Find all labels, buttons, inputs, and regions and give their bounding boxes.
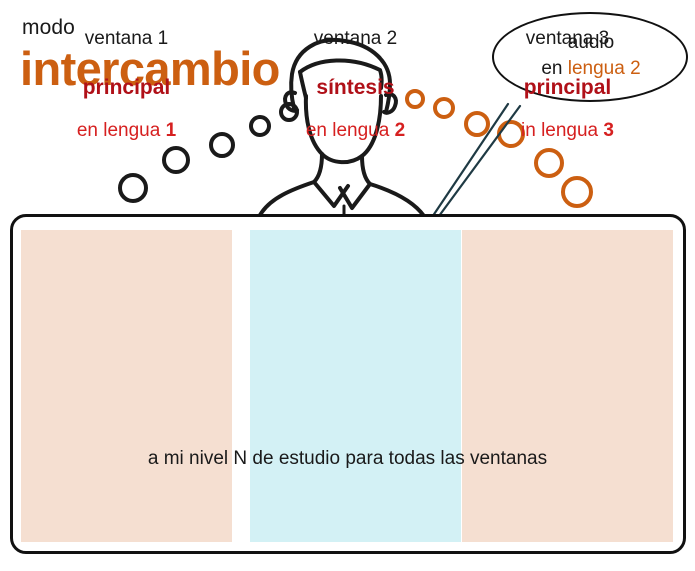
panel-caption: a mi nivel N de estudio para todas las v… bbox=[0, 448, 695, 470]
window-label-2: ventana 2 bbox=[250, 28, 461, 50]
window-language-1-number: 1 bbox=[166, 120, 177, 141]
window-column-3: ventana 3 principal in lengua 3 bbox=[462, 0, 673, 142]
window-column-3-background[interactable] bbox=[462, 230, 673, 542]
diagram-canvas: modo intercambio bbox=[0, 0, 695, 571]
window-column-1-background[interactable] bbox=[21, 230, 232, 542]
window-role-2: síntesis bbox=[250, 76, 461, 100]
window-label-3: ventana 3 bbox=[462, 28, 673, 50]
window-language-2-prefix: en lengua bbox=[306, 120, 395, 141]
window-column-2: ventana 2 síntesis en lengua 2 bbox=[250, 0, 461, 142]
window-language-3-number: 3 bbox=[603, 120, 614, 141]
window-language-1: en lengua 1 bbox=[21, 120, 232, 142]
window-column-2-background[interactable] bbox=[250, 230, 461, 542]
window-language-3: in lengua 3 bbox=[462, 120, 673, 142]
window-language-3-prefix: in lengua bbox=[521, 120, 603, 141]
window-language-1-prefix: en lengua bbox=[77, 120, 166, 141]
window-role-3: principal bbox=[462, 76, 673, 100]
window-role-1: principal bbox=[21, 76, 232, 100]
window-label-1: ventana 1 bbox=[21, 28, 232, 50]
window-language-2: en lengua 2 bbox=[250, 120, 461, 142]
window-column-1: ventana 1 principal en lengua 1 bbox=[21, 0, 232, 142]
window-language-2-number: 2 bbox=[395, 120, 406, 141]
